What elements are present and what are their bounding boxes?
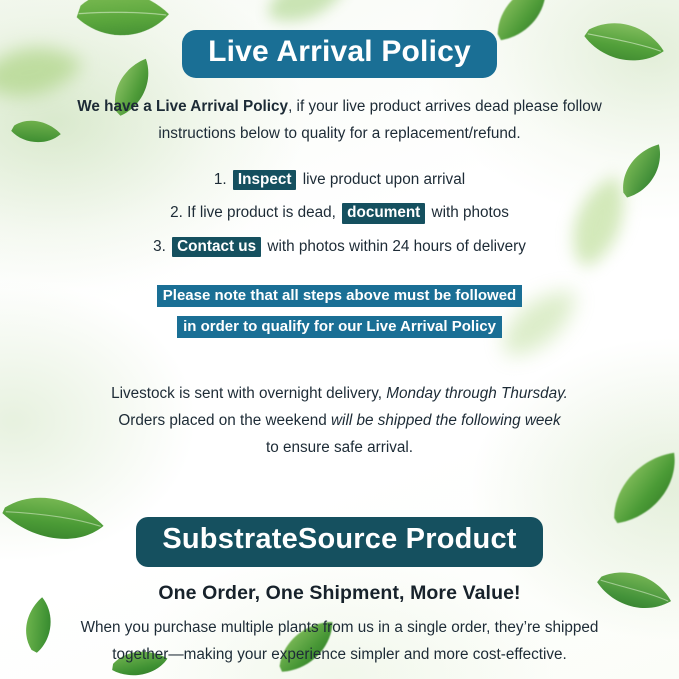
list-item: 3. Contact us with photos within 24 hour… [60,237,620,257]
substrate-source-product-banner: SubstrateSource Product [136,517,542,566]
shipping-line1-italic: Monday through Thursday. [386,385,568,402]
policy-infographic: Live Arrival Policy We have a Live Arriv… [0,0,679,679]
step-number: 3. [153,238,166,255]
step-text-before: If live product is dead, [187,204,336,221]
shipping-paragraph: Livestock is sent with overnight deliver… [80,380,600,462]
steps-list: 1. Inspect live product upon arrival 2. … [60,170,620,257]
intro-bold-lead: We have a Live Arrival Policy [77,98,288,115]
policy-note: Please note that all steps above must be… [0,285,679,338]
step-number: 1. [214,171,227,188]
substrate-source-banner-row: SubstrateSource Product [0,517,679,566]
step-number: 2. [170,204,183,221]
step-text-after: live product upon arrival [303,171,465,188]
step-highlight-contact-us: Contact us [172,237,261,257]
policy-note-line-2: in order to qualify for our Live Arrival… [177,316,502,338]
shipping-line1-plain: Livestock is sent with overnight deliver… [111,385,386,402]
list-item: 2. If live product is dead, document wit… [60,203,620,223]
product-subheading: One Order, One Shipment, More Value! [0,582,679,605]
live-arrival-banner-row: Live Arrival Policy [0,30,679,78]
live-arrival-policy-banner: Live Arrival Policy [182,30,497,78]
intro-paragraph: We have a Live Arrival Policy, if your l… [70,94,610,148]
step-highlight-document: document [342,203,425,223]
shipping-line3: to ensure safe arrival. [266,439,413,456]
step-highlight-inspect: Inspect [233,170,297,190]
list-item: 1. Inspect live product upon arrival [60,170,620,190]
step-text-after: with photos [432,204,509,221]
policy-content: Live Arrival Policy We have a Live Arriv… [0,0,679,679]
product-description: When you purchase multiple plants from u… [75,615,605,669]
policy-note-line-1: Please note that all steps above must be… [157,285,522,307]
step-text-after: with photos within 24 hours of delivery [267,238,526,255]
shipping-line2-plain: Orders placed on the weekend [118,412,331,429]
shipping-line2-italic: will be shipped the following week [331,412,561,429]
